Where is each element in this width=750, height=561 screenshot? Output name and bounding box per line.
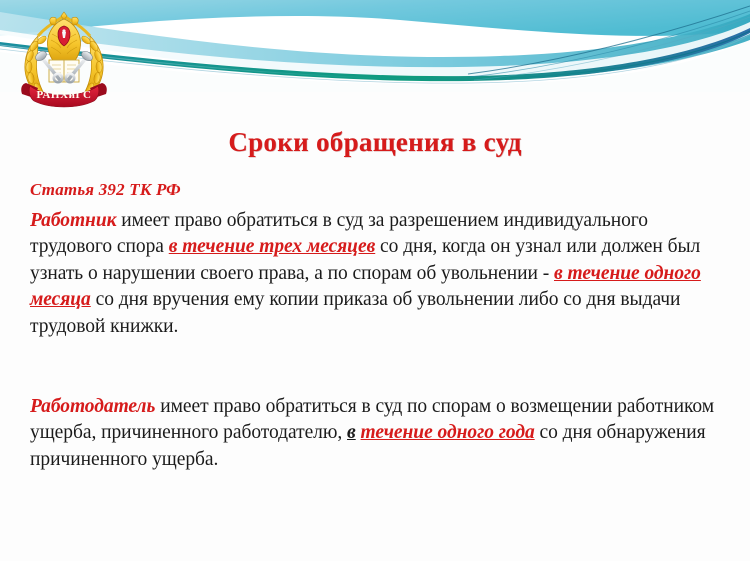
employee-term: Работник [30,210,116,231]
ranepa-logo: РАНХиГС [8,2,120,114]
logo-ribbon-text: РАНХиГС [36,89,91,101]
paragraph-employer: Работодатель имеет право обратиться в су… [30,394,730,473]
term-three-months: в течение трех месяцев [169,236,376,257]
paragraph-employee: Работник имеет право обратиться в суд за… [30,208,730,340]
slide-body: Статья 392 ТК РФ Работник имеет право об… [30,178,730,473]
employer-term: Работодатель [30,396,155,417]
employee-text-3: со дня вручения ему копии приказа об уво… [30,289,680,336]
term-one-year-prefix: в [347,422,356,443]
article-reference: Статья 392 ТК РФ [30,178,730,202]
double-headed-eagle [47,12,80,64]
paragraph-spacer [30,340,730,394]
page-title: Сроки обращения в суд [0,125,750,159]
ribbon-banner: РАНХиГС [21,83,107,107]
term-one-year: течение одного года [361,422,535,443]
slide-canvas: РАНХиГС Сроки обращения в суд Статья 392… [0,0,750,561]
